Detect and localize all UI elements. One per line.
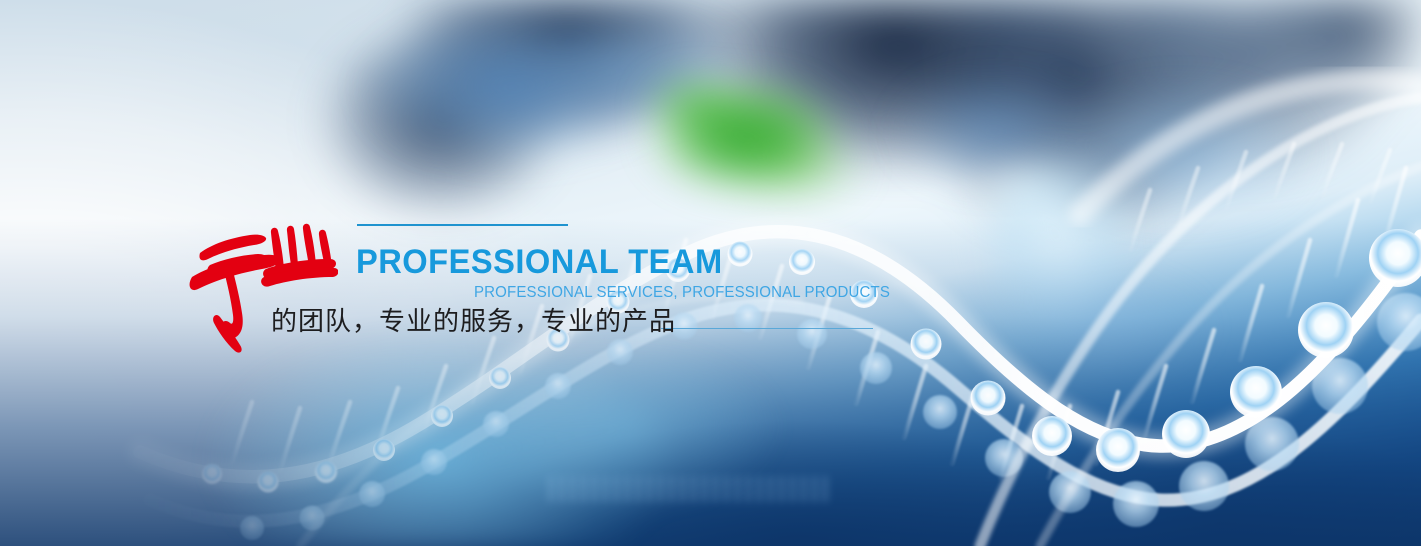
accent-rule-top [357, 224, 568, 226]
accent-rule-bottom [661, 328, 873, 329]
subheadline-text: PROFESSIONAL SERVICES, PROFESSIONAL PROD… [474, 285, 890, 301]
hero-banner: PROFESSIONAL TEAM PROFESSIONAL SERVICES,… [0, 0, 1421, 546]
banner-content: PROFESSIONAL TEAM PROFESSIONAL SERVICES,… [0, 0, 1421, 546]
headline-text: PROFESSIONAL TEAM [356, 245, 723, 279]
chinese-tagline-text: 的团队，专业的服务，专业的产品 [271, 306, 676, 339]
